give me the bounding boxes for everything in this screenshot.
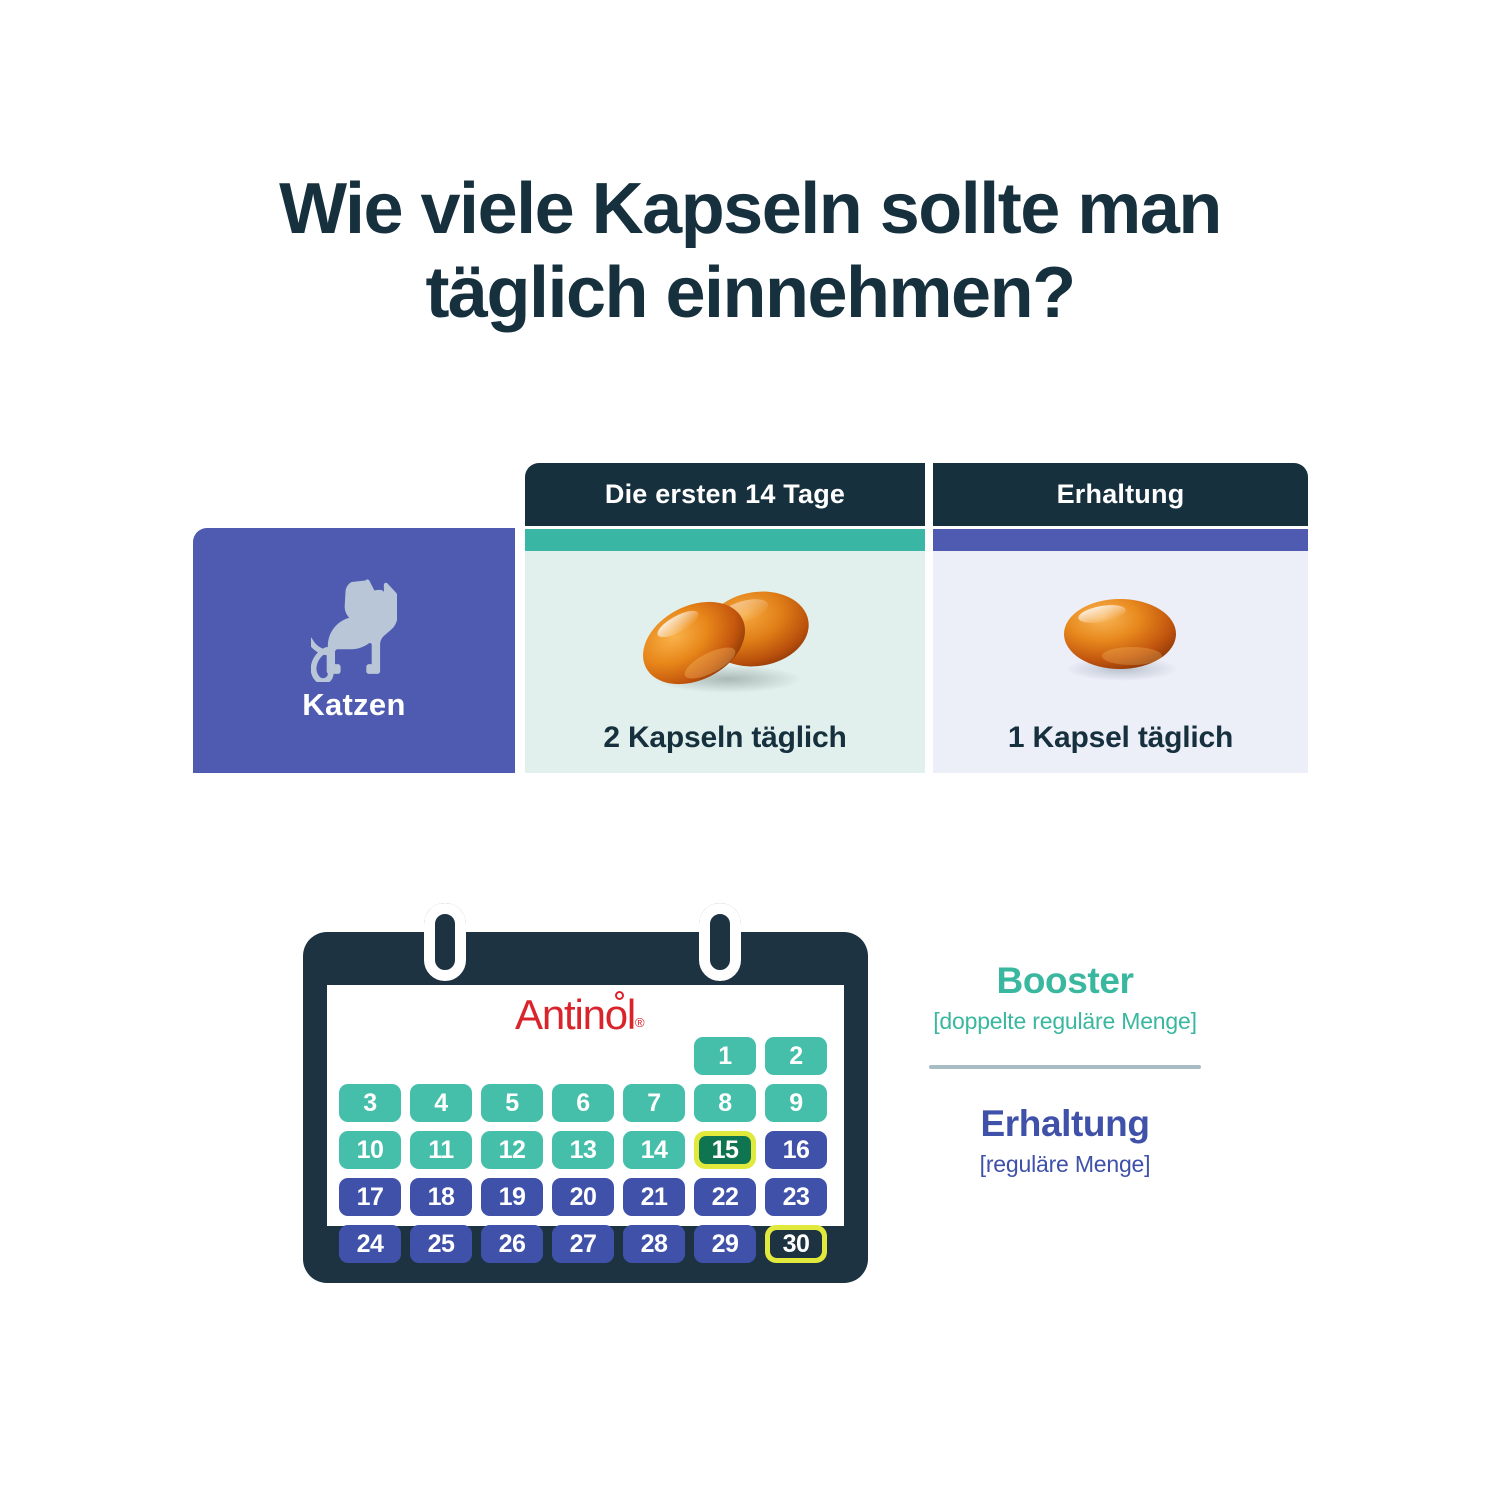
day-cell-16[interactable]: 16 bbox=[765, 1131, 827, 1169]
day-cell-19[interactable]: 19 bbox=[481, 1178, 543, 1216]
dosing-calendar: Antinol® 1 2 3 4 5 6 7 8 9 10 11 12 13 1… bbox=[303, 903, 868, 1283]
day-cell-empty bbox=[552, 1037, 614, 1075]
day-cell-1[interactable]: 1 bbox=[694, 1037, 756, 1075]
day-cell-27[interactable]: 27 bbox=[552, 1225, 614, 1263]
legend-divider bbox=[929, 1065, 1201, 1069]
legend-booster-subtitle: [doppelte reguläre Menge] bbox=[900, 1008, 1230, 1035]
calendar-page: Antinol® 1 2 3 4 5 6 7 8 9 10 11 12 13 1… bbox=[327, 985, 844, 1226]
cat-silhouette-icon bbox=[311, 576, 397, 687]
day-cell-20[interactable]: 20 bbox=[552, 1178, 614, 1216]
day-cell-empty bbox=[481, 1037, 543, 1075]
day-cell-22[interactable]: 22 bbox=[694, 1178, 756, 1216]
day-cell-empty bbox=[410, 1037, 472, 1075]
dose-label-maintenance: 1 Kapsel täglich bbox=[933, 721, 1308, 755]
day-cell-3[interactable]: 3 bbox=[339, 1084, 401, 1122]
day-cell-21[interactable]: 21 bbox=[623, 1178, 685, 1216]
antinol-logo: Antinol® bbox=[515, 994, 643, 1036]
day-cell-30-label: 30 bbox=[770, 1230, 822, 1258]
day-cell-23[interactable]: 23 bbox=[765, 1178, 827, 1216]
day-cell-2[interactable]: 2 bbox=[765, 1037, 827, 1075]
day-cell-30-highlight[interactable]: 30 bbox=[765, 1225, 827, 1263]
day-cell-6[interactable]: 6 bbox=[552, 1084, 614, 1122]
day-cell-empty bbox=[623, 1037, 685, 1075]
day-cell-14[interactable]: 14 bbox=[623, 1131, 685, 1169]
day-cell-29[interactable]: 29 bbox=[694, 1225, 756, 1263]
table-header-first-14-days: Die ersten 14 Tage bbox=[525, 463, 925, 526]
species-panel-cats: Katzen bbox=[193, 528, 515, 773]
day-cell-empty bbox=[339, 1037, 401, 1075]
day-cell-18[interactable]: 18 bbox=[410, 1178, 472, 1216]
day-cell-25[interactable]: 25 bbox=[410, 1225, 472, 1263]
accent-bar-maintenance bbox=[933, 529, 1308, 551]
day-cell-5[interactable]: 5 bbox=[481, 1084, 543, 1122]
calendar-ring-right bbox=[699, 903, 741, 981]
calendar-legend: Booster [doppelte reguläre Menge] Erhalt… bbox=[900, 960, 1230, 1178]
page-title-line-1: Wie viele Kapseln sollte man bbox=[279, 169, 1221, 249]
day-cell-13[interactable]: 13 bbox=[552, 1131, 614, 1169]
day-cell-10[interactable]: 10 bbox=[339, 1131, 401, 1169]
calendar-day-grid: 1 2 3 4 5 6 7 8 9 10 11 12 13 14 15 16 1… bbox=[339, 1037, 832, 1263]
species-label: Katzen bbox=[193, 687, 515, 723]
dose-label-first-14-days: 2 Kapseln täglich bbox=[525, 721, 925, 755]
day-cell-12[interactable]: 12 bbox=[481, 1131, 543, 1169]
day-cell-26[interactable]: 26 bbox=[481, 1225, 543, 1263]
table-cell-first-14-days: 2 Kapseln täglich bbox=[525, 551, 925, 773]
logo-i-dot-icon bbox=[615, 991, 624, 1000]
calendar-ring-left bbox=[424, 903, 466, 981]
day-cell-24[interactable]: 24 bbox=[339, 1225, 401, 1263]
capsule-group-one bbox=[933, 571, 1308, 701]
day-cell-8[interactable]: 8 bbox=[694, 1084, 756, 1122]
day-cell-15-label: 15 bbox=[699, 1136, 751, 1164]
day-cell-7[interactable]: 7 bbox=[623, 1084, 685, 1122]
legend-maintenance-title: Erhaltung bbox=[900, 1103, 1230, 1145]
day-cell-4[interactable]: 4 bbox=[410, 1084, 472, 1122]
day-cell-28[interactable]: 28 bbox=[623, 1225, 685, 1263]
day-cell-9[interactable]: 9 bbox=[765, 1084, 827, 1122]
page-title: Wie viele Kapseln sollte man täglich ein… bbox=[180, 168, 1320, 335]
table-cell-maintenance: 1 Kapsel täglich bbox=[933, 551, 1308, 773]
table-header-label: Erhaltung bbox=[1057, 479, 1185, 510]
registered-mark: ® bbox=[635, 1015, 643, 1030]
legend-booster-title: Booster bbox=[900, 960, 1230, 1002]
capsule-group-two bbox=[525, 571, 925, 701]
table-header-label: Die ersten 14 Tage bbox=[605, 479, 845, 510]
table-header-maintenance: Erhaltung bbox=[933, 463, 1308, 526]
legend-maintenance-subtitle: [reguläre Menge] bbox=[900, 1151, 1230, 1178]
accent-bar-booster bbox=[525, 529, 925, 551]
day-cell-17[interactable]: 17 bbox=[339, 1178, 401, 1216]
page-title-line-2: täglich einnehmen? bbox=[180, 252, 1320, 336]
day-cell-11[interactable]: 11 bbox=[410, 1131, 472, 1169]
day-cell-15-highlight[interactable]: 15 bbox=[694, 1131, 756, 1169]
